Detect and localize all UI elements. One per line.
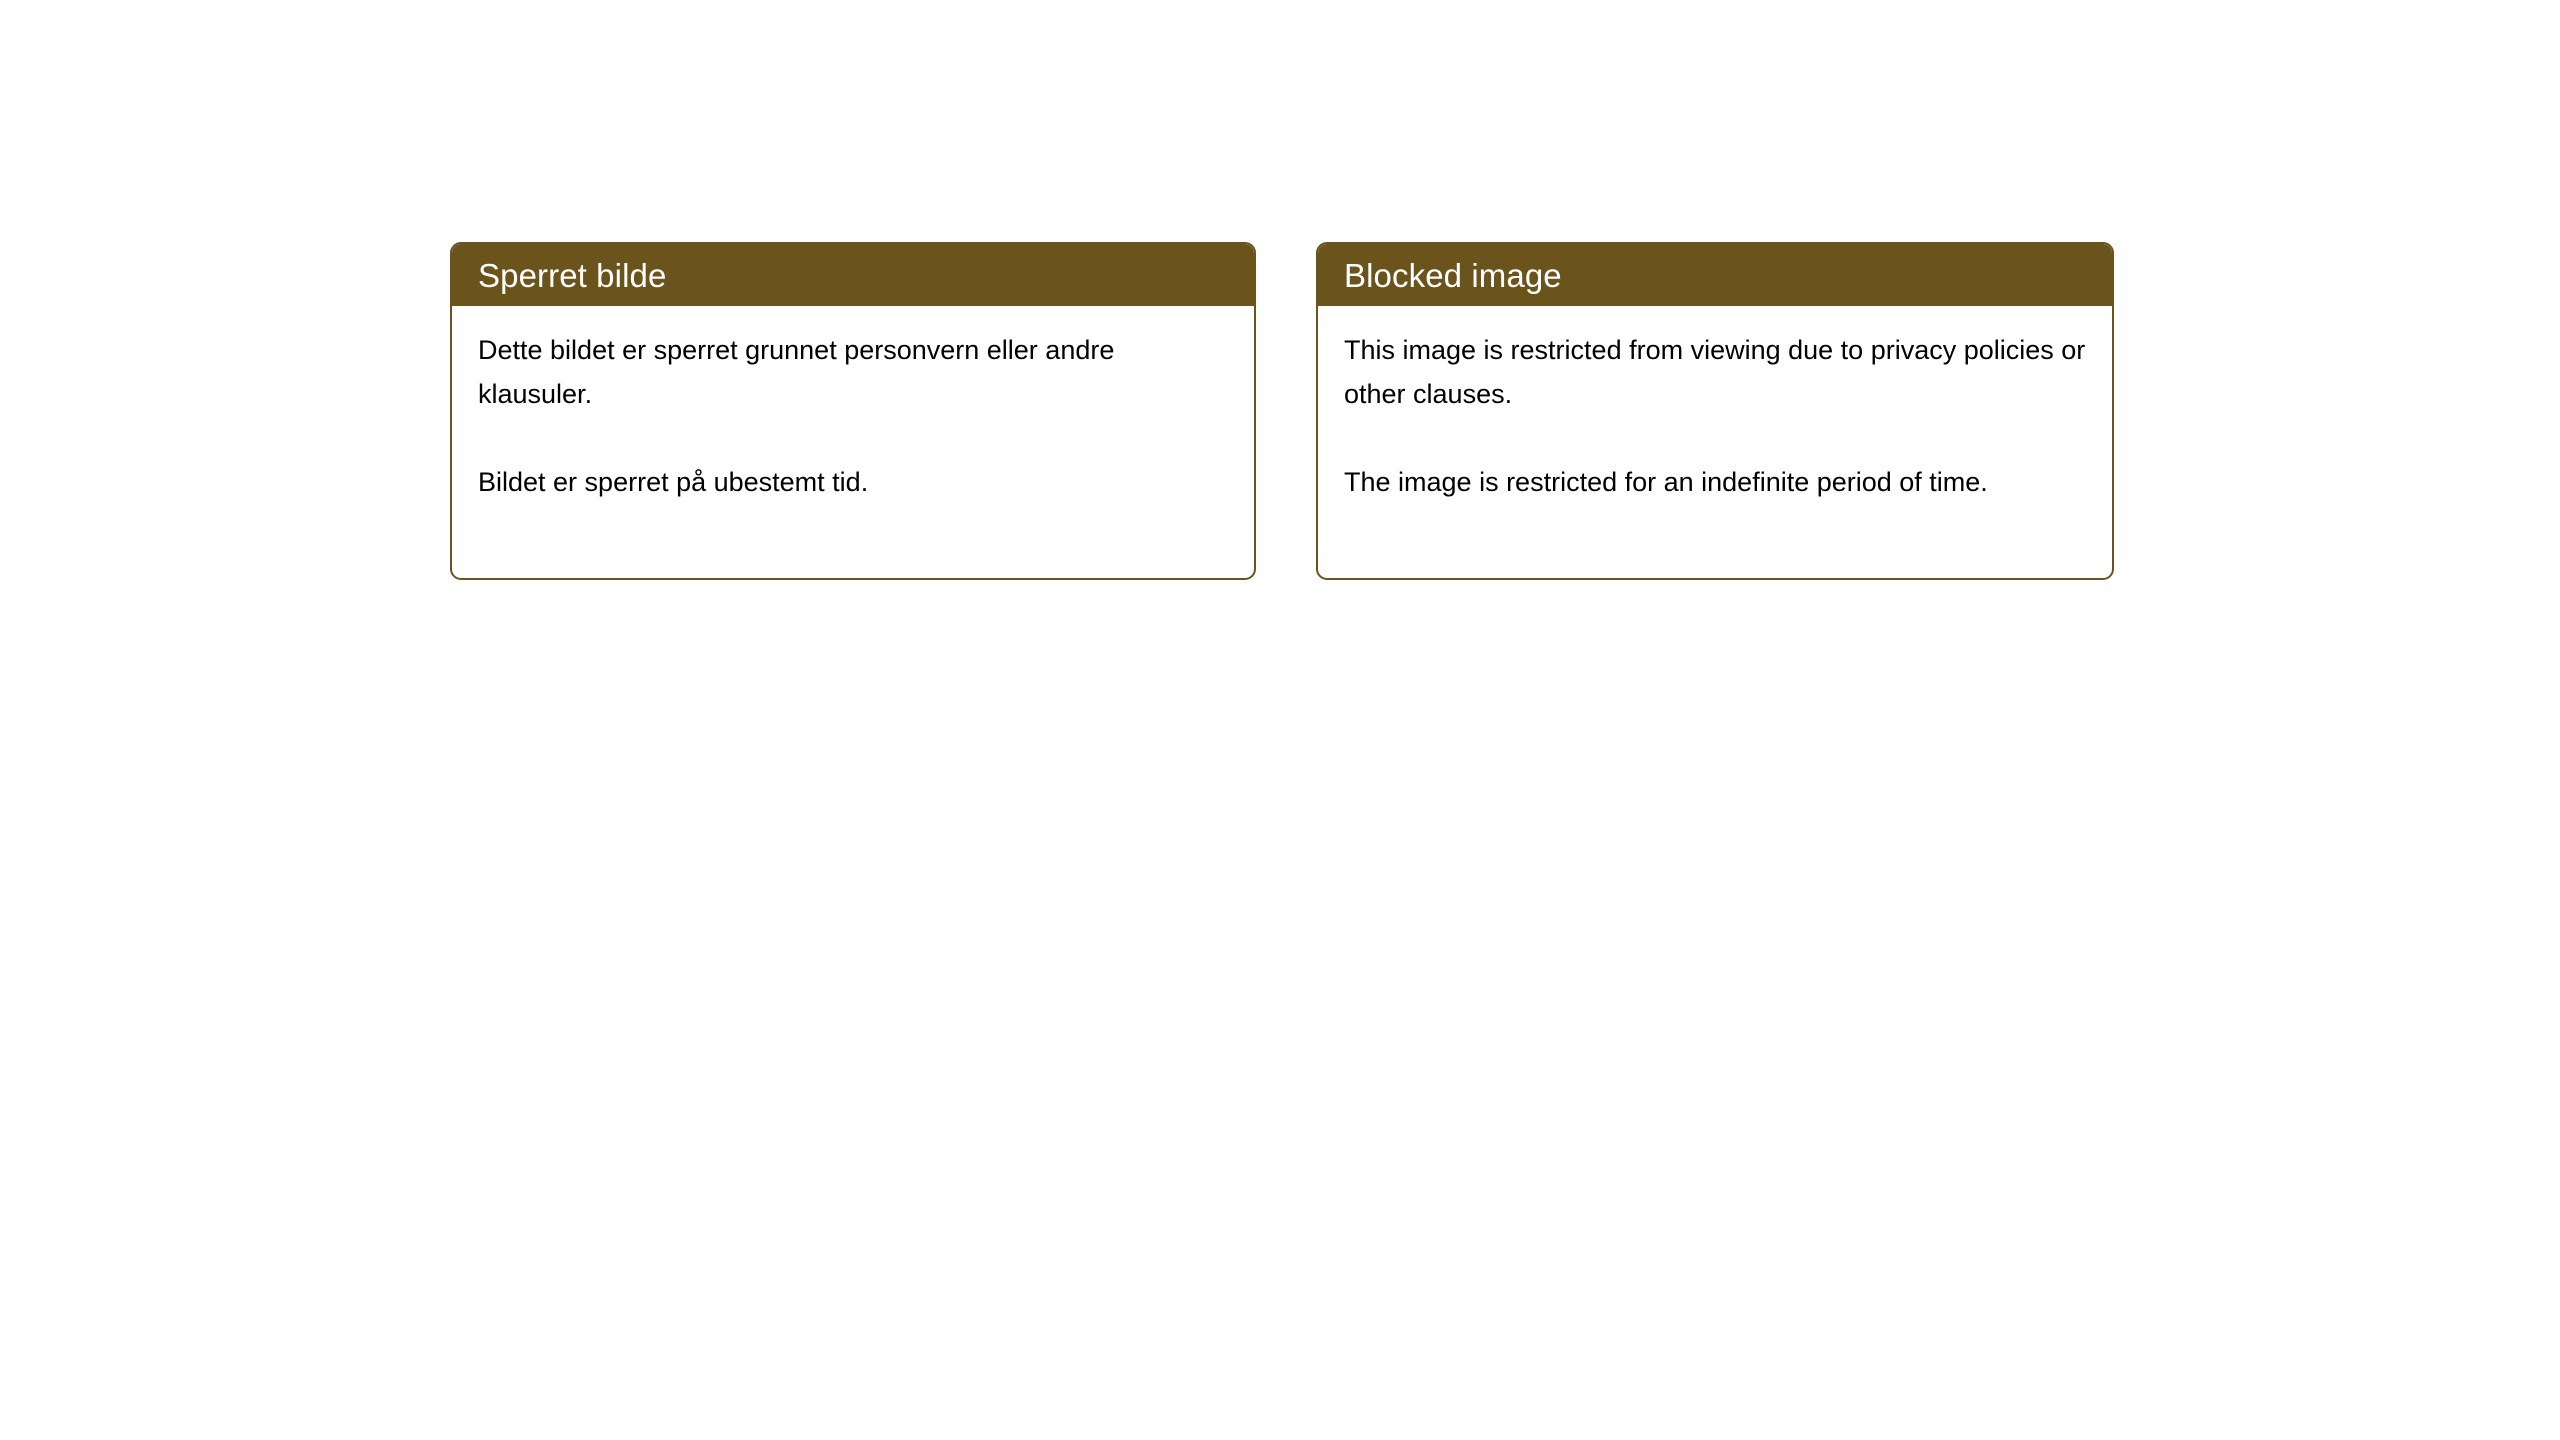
page-canvas: Sperret bilde Dette bildet er sperret gr… [0, 0, 2560, 1440]
card-paragraph-2-english: The image is restricted for an indefinit… [1344, 460, 2086, 504]
blocked-image-card-english: Blocked image This image is restricted f… [1316, 242, 2114, 580]
card-paragraph-2-norwegian: Bildet er sperret på ubestemt tid. [478, 460, 1228, 504]
card-title-english: Blocked image [1344, 259, 1562, 292]
card-paragraph-1-english: This image is restricted from viewing du… [1344, 328, 2086, 416]
card-paragraph-1-norwegian: Dette bildet er sperret grunnet personve… [478, 328, 1228, 416]
blocked-image-card-norwegian: Sperret bilde Dette bildet er sperret gr… [450, 242, 1256, 580]
card-body-english: This image is restricted from viewing du… [1318, 306, 2112, 504]
card-title-norwegian: Sperret bilde [478, 259, 666, 292]
card-body-norwegian: Dette bildet er sperret grunnet personve… [452, 306, 1254, 504]
card-header-english: Blocked image [1318, 244, 2112, 306]
card-header-norwegian: Sperret bilde [452, 244, 1254, 306]
